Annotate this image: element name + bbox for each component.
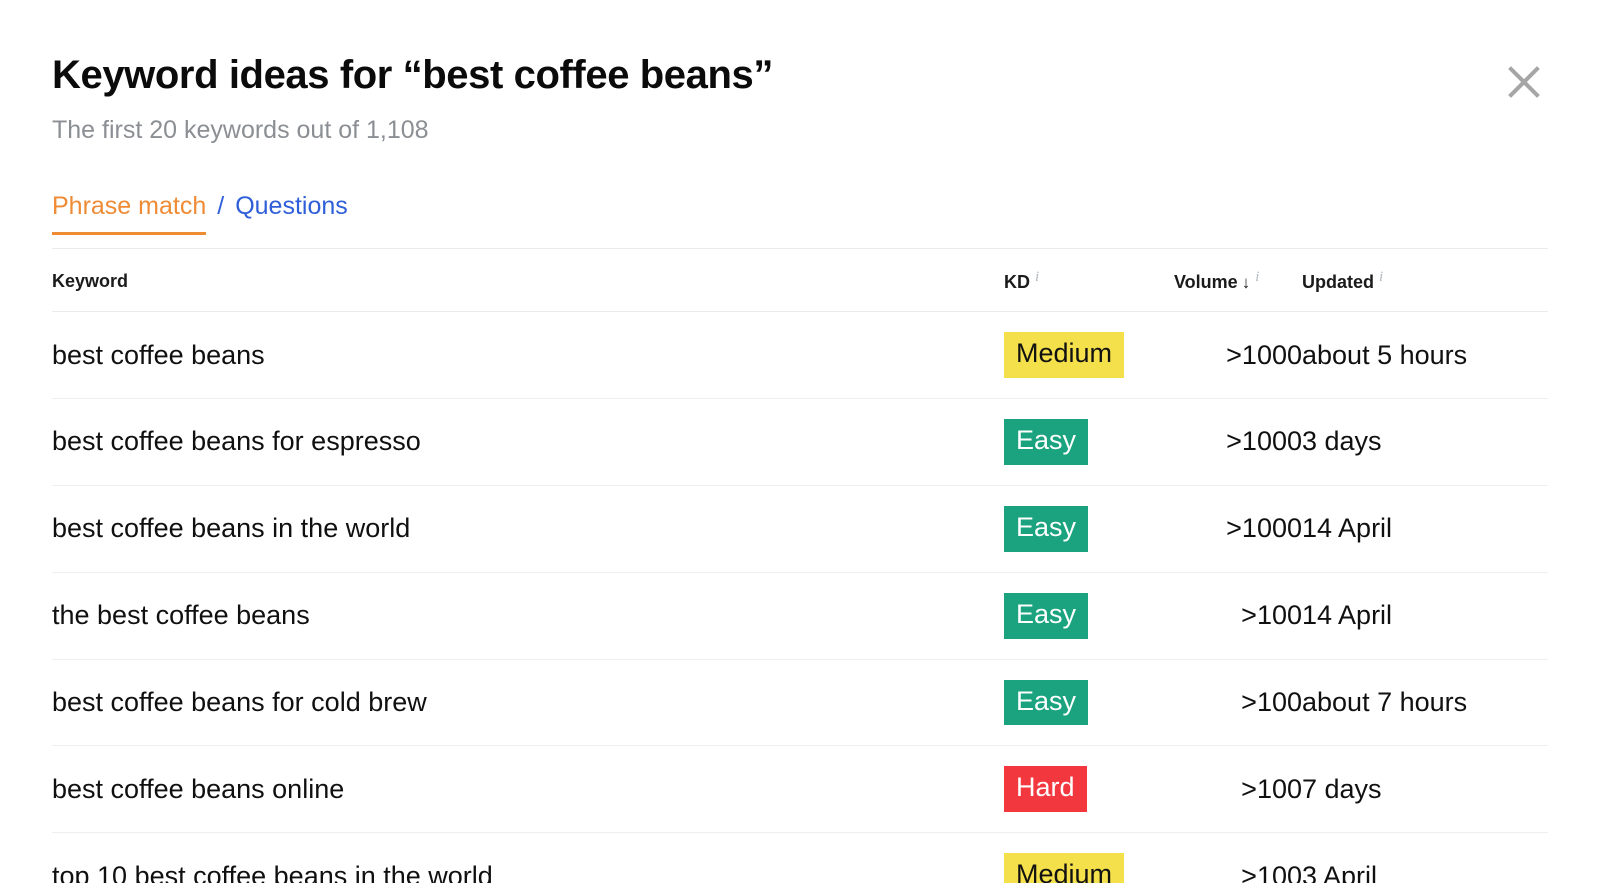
cell-keyword[interactable]: best coffee beans [52,312,1004,399]
cell-volume: >1000 [1174,399,1302,486]
table-header: Keyword KDi Volume↓i Updatedi [52,249,1548,312]
info-icon-updated[interactable]: i [1379,269,1383,285]
cell-volume: >100 [1174,746,1302,833]
cell-volume: >1000 [1174,312,1302,399]
cell-updated: 3 days [1302,399,1548,486]
kd-badge: Hard [1004,766,1087,812]
close-icon [1507,65,1541,99]
column-header-volume-label: Volume [1174,272,1238,292]
column-header-updated-label: Updated [1302,272,1374,292]
tab-phrase-match[interactable]: Phrase match [52,191,206,235]
kd-badge: Easy [1004,680,1088,726]
table-row[interactable]: best coffee beans for espressoEasy>10003… [52,399,1548,486]
close-button[interactable] [1500,58,1548,106]
info-icon-kd[interactable]: i [1035,269,1039,285]
cell-keyword[interactable]: the best coffee beans [52,572,1004,659]
keyword-ideas-table: Keyword KDi Volume↓i Updatedi best coffe… [52,248,1548,883]
cell-keyword[interactable]: best coffee beans in the world [52,485,1004,572]
kd-badge: Medium [1004,332,1124,378]
cell-updated: about 7 hours [1302,659,1548,746]
cell-volume: >100 [1174,659,1302,746]
keyword-ideas-modal: Keyword ideas for “best coffee beans” Th… [0,0,1600,883]
table-row[interactable]: best coffee beansMedium>1000about 5 hour… [52,312,1548,399]
column-header-keyword[interactable]: Keyword [52,249,1004,312]
column-header-volume[interactable]: Volume↓i [1174,249,1302,312]
cell-kd: Medium [1004,833,1174,883]
cell-volume: >1000 [1174,485,1302,572]
table-row[interactable]: best coffee beans for cold brewEasy>100a… [52,659,1548,746]
cell-keyword[interactable]: best coffee beans for espresso [52,399,1004,486]
cell-updated: 14 April [1302,485,1548,572]
cell-kd: Easy [1004,572,1174,659]
cell-keyword[interactable]: best coffee beans online [52,746,1004,833]
kd-badge: Easy [1004,593,1088,639]
cell-updated: 14 April [1302,572,1548,659]
kd-badge: Medium [1004,853,1124,883]
tab-questions[interactable]: Questions [235,191,348,221]
cell-volume: >100 [1174,833,1302,883]
info-icon-volume[interactable]: i [1255,269,1259,285]
modal-header: Keyword ideas for “best coffee beans” Th… [52,0,1548,145]
table-row[interactable]: the best coffee beansEasy>10014 April [52,572,1548,659]
cell-keyword[interactable]: best coffee beans for cold brew [52,659,1004,746]
cell-kd: Hard [1004,746,1174,833]
kd-badge: Easy [1004,419,1088,465]
table-row[interactable]: best coffee beans in the worldEasy>10001… [52,485,1548,572]
table-header-row: Keyword KDi Volume↓i Updatedi [52,249,1548,312]
table-row[interactable]: top 10 best coffee beans in the worldMed… [52,833,1548,883]
page-subtitle: The first 20 keywords out of 1,108 [52,115,1548,145]
column-header-kd-label: KD [1004,272,1030,292]
column-header-kd[interactable]: KDi [1004,249,1174,312]
tab-separator: / [217,191,224,221]
cell-kd: Easy [1004,485,1174,572]
column-header-keyword-label: Keyword [52,271,128,291]
cell-kd: Easy [1004,399,1174,486]
cell-volume: >100 [1174,572,1302,659]
cell-kd: Medium [1004,312,1174,399]
column-header-updated[interactable]: Updatedi [1302,249,1548,312]
page-title: Keyword ideas for “best coffee beans” [52,52,1548,99]
table-body: best coffee beansMedium>1000about 5 hour… [52,312,1548,883]
sort-descending-icon[interactable]: ↓ [1242,273,1251,292]
kd-badge: Easy [1004,506,1088,552]
match-type-tabs: Phrase match / Questions [52,191,1548,235]
cell-updated: 7 days [1302,746,1548,833]
cell-keyword[interactable]: top 10 best coffee beans in the world [52,833,1004,883]
cell-updated: 3 April [1302,833,1548,883]
cell-updated: about 5 hours [1302,312,1548,399]
cell-kd: Easy [1004,659,1174,746]
table-row[interactable]: best coffee beans onlineHard>1007 days [52,746,1548,833]
